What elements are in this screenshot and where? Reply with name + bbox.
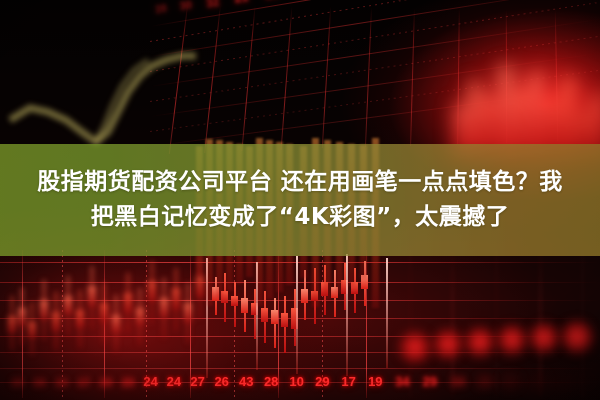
- screenshot-root: 2830322130302726 18161917202324242726432…: [0, 0, 600, 400]
- headline-line-1: 股指期货配资公司平台 还在用画笔一点点填色？我: [0, 165, 600, 200]
- headline-line-2: 把黑白记忆变成了“4K彩图”，太震撼了: [0, 200, 600, 235]
- headline-overlay-band: 股指期货配资公司平台 还在用画笔一点点填色？我 把黑白记忆变成了“4K彩图”，太…: [0, 144, 600, 256]
